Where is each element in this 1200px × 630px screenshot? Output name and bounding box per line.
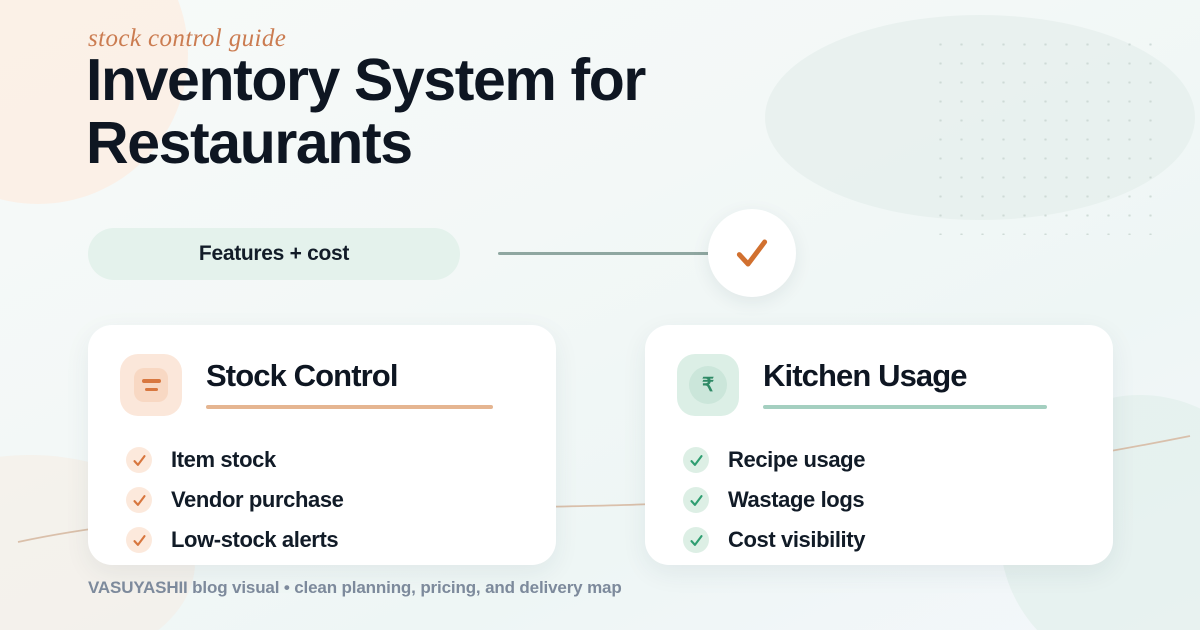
check-icon [126,447,152,473]
decorative-dot-grid [930,35,1165,235]
list-item-label: Low-stock alerts [171,527,338,553]
list-lines-icon [120,354,182,416]
card-title: Kitchen Usage [763,358,1047,394]
card-header: Stock Control [120,354,493,416]
footer-caption: VASUYASHII blog visual • clean planning,… [88,578,622,598]
check-badge[interactable] [708,209,796,297]
feature-list-stock-control: Item stock Vendor purchase Low-stock ale… [126,440,344,560]
feature-list-kitchen-usage: Recipe usage Wastage logs Cost visibilit… [683,440,865,560]
rupee-icon-glyph: ₹ [689,366,727,404]
list-line-bottom [145,388,158,392]
poster-canvas: stock control guide Inventory System for… [0,0,1200,630]
list-item-label: Cost visibility [728,527,865,553]
list-item-label: Vendor purchase [171,487,344,513]
list-item[interactable]: Item stock [126,440,344,480]
check-icon [126,487,152,513]
list-item[interactable]: Wastage logs [683,480,865,520]
check-icon [733,234,771,272]
features-cost-pill[interactable]: Features + cost [88,228,460,280]
list-lines-icon-inner [134,368,168,402]
card-title-underline [763,405,1047,409]
list-item[interactable]: Cost visibility [683,520,865,560]
decorative-blob-top-right [765,15,1195,220]
connector-line [498,252,723,255]
card-title: Stock Control [206,358,493,394]
card-title-underline [206,405,493,409]
card-header: ₹ Kitchen Usage [677,354,1047,416]
list-item[interactable]: Recipe usage [683,440,865,480]
list-item-label: Item stock [171,447,276,473]
check-icon [683,447,709,473]
list-item[interactable]: Vendor purchase [126,480,344,520]
check-icon [683,527,709,553]
list-line-top [142,379,161,383]
page-title: Inventory System for Restaurants [86,49,786,174]
pill-label: Features + cost [199,242,349,266]
check-icon [683,487,709,513]
list-item-label: Recipe usage [728,447,865,473]
list-item-label: Wastage logs [728,487,864,513]
rupee-icon: ₹ [677,354,739,416]
list-item[interactable]: Low-stock alerts [126,520,344,560]
check-icon [126,527,152,553]
